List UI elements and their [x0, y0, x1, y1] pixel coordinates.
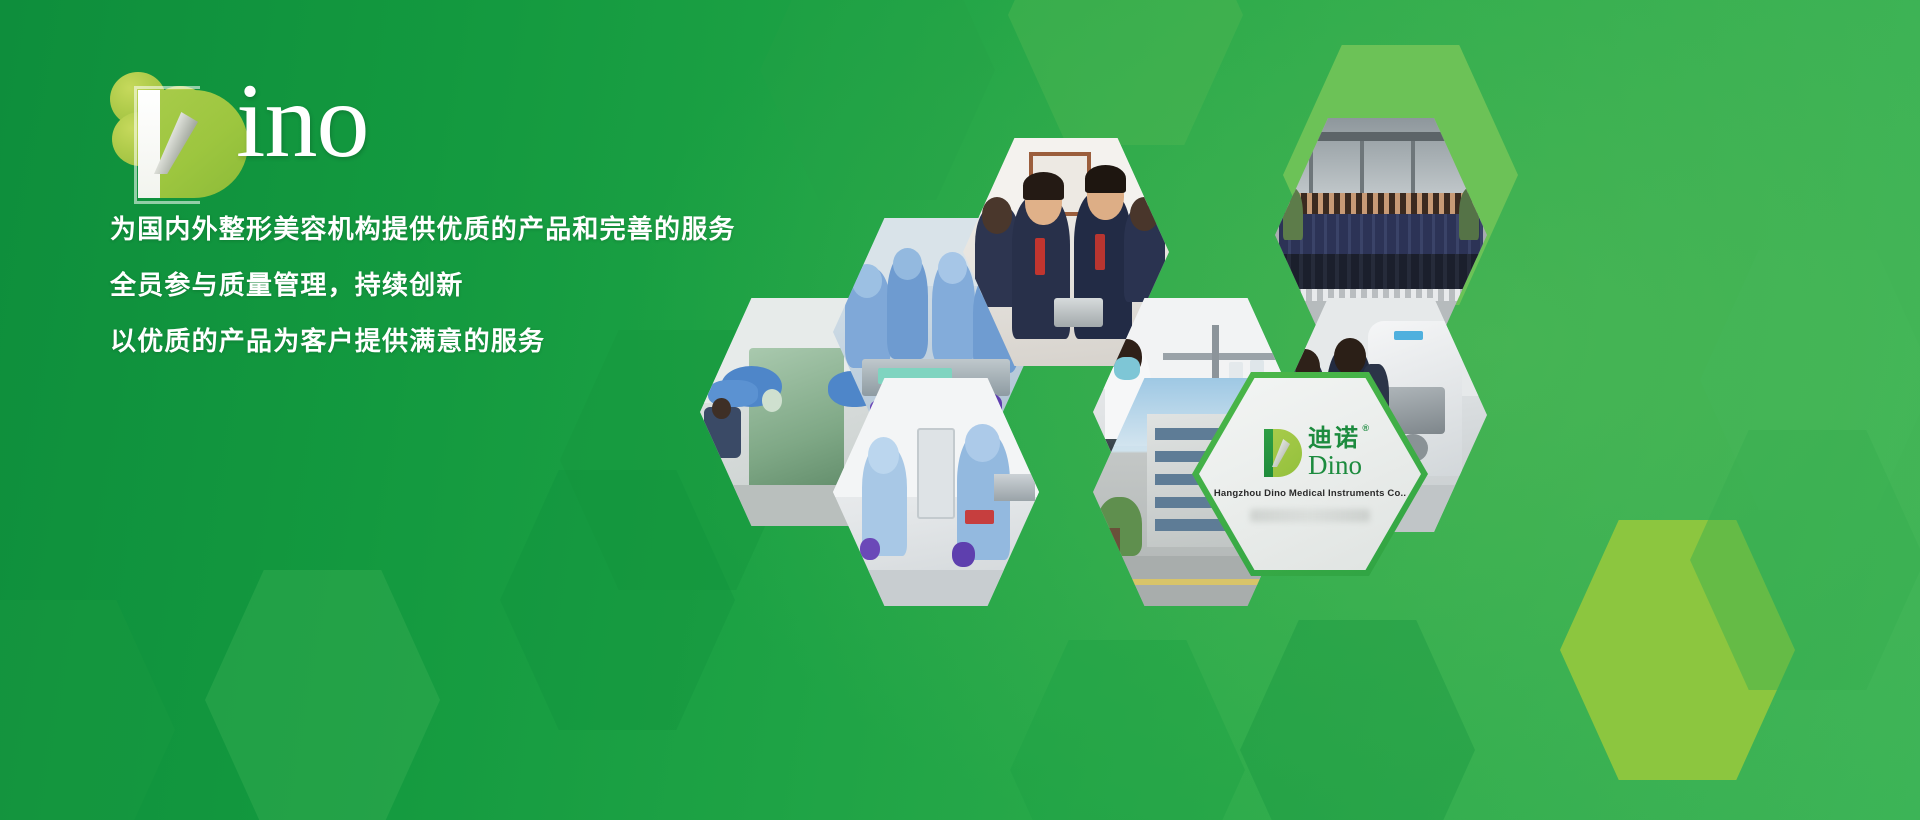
logo-wordmark: ino [236, 68, 368, 174]
blurred-subtext [1250, 509, 1370, 522]
center-logo-card: 迪诺 ® Dino Hangzhou Dino Medical Instrume… [1199, 378, 1421, 570]
dino-brand-text: 迪诺 ® Dino [1308, 426, 1362, 480]
bg-hexagon-right-lower [1690, 430, 1920, 690]
logo-frame [134, 86, 200, 204]
bg-hexagon-bottomleft [0, 600, 175, 820]
bg-hexagon-topleft-light [1008, 0, 1243, 145]
brand-name-cn-label: 迪诺 [1308, 425, 1360, 452]
company-name-line: Hangzhou Dino Medical Instruments Co.. [1214, 488, 1406, 499]
bg-hexagon-left-mid-dark [500, 470, 735, 730]
hero-banner: ino 为国内外整形美容机构提供优质的产品和完善的服务 全员参与质量管理，持续创… [0, 0, 1920, 820]
bg-hexagon-bottom-center [1010, 640, 1245, 820]
registered-trademark-icon: ® [1362, 424, 1371, 433]
dino-logo: ino [110, 60, 410, 170]
dino-brand-mark: 迪诺 ® Dino [1258, 426, 1362, 480]
tagline-2: 全员参与质量管理，持续创新 [110, 272, 870, 298]
bg-hexagon-left-lower [205, 570, 440, 820]
tagline-1: 为国内外整形美容机构提供优质的产品和完善的服务 [110, 216, 870, 242]
brand-name-en: Dino [1308, 451, 1362, 479]
dino-d-leaf-icon [1258, 429, 1302, 477]
bg-hexagon-bottom-right [1240, 620, 1475, 820]
brand-name-cn: 迪诺 ® [1308, 426, 1360, 451]
